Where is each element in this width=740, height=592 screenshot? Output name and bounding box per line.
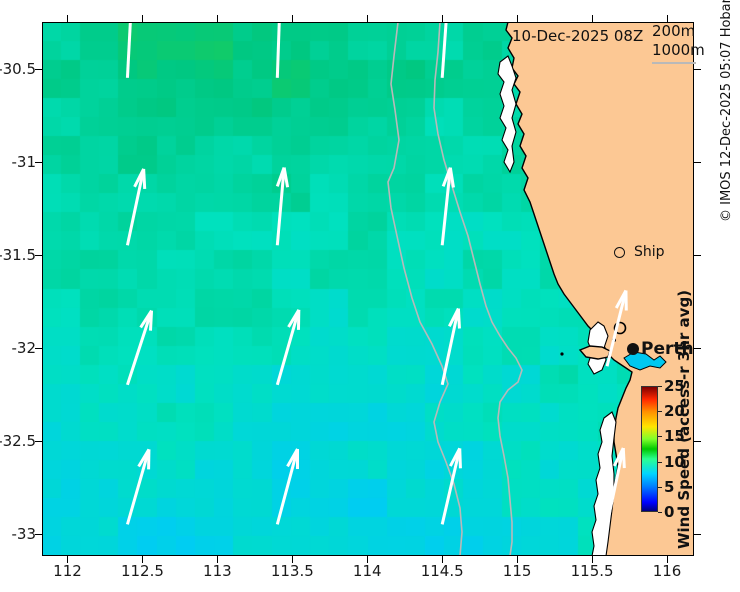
x-tick-label: 115 (503, 562, 532, 580)
y-tick-label: -31.5 (0, 246, 36, 264)
y-tick-mark (35, 255, 42, 256)
x-tick-mark-top (517, 15, 518, 22)
y-tick-mark-right (694, 255, 701, 256)
x-tick-label: 115.5 (571, 562, 614, 580)
depth-contour-legend: 200m 1000m (652, 22, 705, 64)
x-tick-label: 114.5 (421, 562, 464, 580)
x-tick-mark-top (442, 15, 443, 22)
x-tick-mark-top (67, 15, 68, 22)
y-tick-label: -31 (0, 153, 36, 171)
colorbar-tick-label: 5 (664, 478, 674, 496)
wind-arrow (277, 310, 298, 385)
y-tick-label: -33 (0, 525, 36, 543)
x-tick-label: 112 (53, 562, 82, 580)
y-tick-mark (35, 69, 42, 70)
ship-legend-label: Ship (634, 244, 665, 260)
depth-legend-rule (652, 62, 696, 64)
wind-arrow (442, 448, 460, 524)
colorbar-title: Wind Speed (access-r 3hr avg) (675, 349, 693, 549)
wind-speed-colorbar (641, 386, 658, 512)
y-tick-mark (35, 441, 42, 442)
perth-city-dot (627, 343, 639, 355)
y-tick-mark (35, 534, 42, 535)
y-tick-mark-right (694, 348, 701, 349)
wind-arrow (442, 168, 453, 246)
x-tick-label: 112.5 (121, 562, 164, 580)
date-time-label: 10-Dec-2025 08Z (512, 27, 643, 45)
wind-arrow (127, 449, 148, 524)
x-tick-label: 116 (653, 562, 682, 580)
x-tick-mark-top (667, 15, 668, 22)
credit-text: © IMOS 12-Dec-2025 05:07 Hobart; Tscale=… (719, 0, 734, 222)
wind-arrow (607, 448, 624, 524)
wind-arrow (607, 291, 626, 367)
wind-arrow (442, 309, 459, 385)
colorbar-tick-mark (658, 411, 662, 412)
y-tick-mark-right (694, 69, 701, 70)
wind-arrow (277, 168, 287, 246)
wind-arrow (127, 311, 151, 385)
x-tick-mark-top (217, 15, 218, 22)
depth-legend-shallow: 200m (652, 22, 705, 41)
ship-marker-icon (614, 247, 625, 258)
colorbar-tick-mark (658, 487, 662, 488)
wind-arrow (277, 449, 297, 524)
colorbar-tick-mark (658, 462, 662, 463)
x-tick-mark-top (292, 15, 293, 22)
colorbar-tick-mark (658, 512, 662, 513)
x-tick-mark-top (592, 15, 593, 22)
colorbar-tick-label: 0 (664, 503, 674, 521)
x-tick-mark-top (142, 15, 143, 22)
y-tick-label: -30.5 (0, 60, 36, 78)
figure-canvas: 112112.5113113.5114114.5115115.5116 -30.… (0, 0, 740, 592)
wind-arrow (441, 22, 451, 78)
x-tick-label: 113.5 (271, 562, 314, 580)
y-tick-mark-right (694, 534, 701, 535)
y-tick-mark (35, 348, 42, 349)
depth-legend-deep: 1000m (652, 41, 705, 60)
colorbar-tick-mark (658, 436, 662, 437)
y-tick-label: -32.5 (0, 432, 36, 450)
x-tick-label: 113 (203, 562, 232, 580)
x-tick-label: 114 (353, 562, 382, 580)
wind-arrow (274, 22, 284, 78)
y-tick-mark-right (694, 162, 701, 163)
y-tick-mark (35, 162, 42, 163)
y-tick-mark-right (694, 441, 701, 442)
colorbar-tick-mark (658, 386, 662, 387)
map-plot-area[interactable] (42, 22, 694, 556)
wind-arrow (125, 22, 135, 78)
wind-arrow (127, 169, 144, 245)
x-tick-mark-top (367, 15, 368, 22)
y-tick-label: -32 (0, 339, 36, 357)
wind-vector-layer (42, 22, 694, 556)
ship-legend: Ship (614, 244, 665, 260)
